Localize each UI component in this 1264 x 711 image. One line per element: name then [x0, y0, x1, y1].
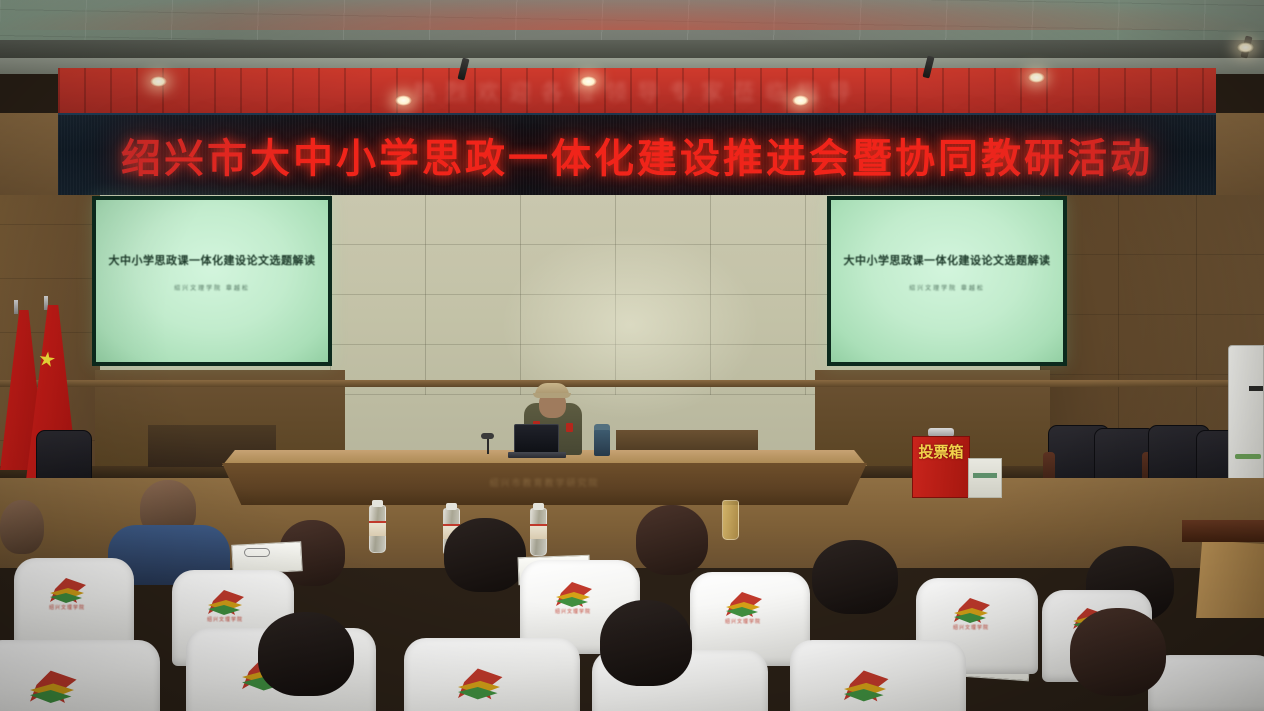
chair-cover: [790, 640, 966, 711]
chair-logo: 绍兴文理学院: [948, 596, 994, 630]
conference-hall-photo: 热烈欢迎各位领导专家莅临指导 绍兴市大中小学思政一体化建设推进会暨协同教研活动 …: [0, 0, 1264, 711]
speaker-cap-brim: [533, 393, 571, 398]
presenter-table-front: 绍兴市教育教学研究院: [222, 463, 867, 505]
slide-subtitle-left: 绍兴文理学院 章越松: [96, 283, 328, 292]
flag-pole: [44, 296, 48, 310]
tea-cup: [722, 500, 739, 540]
chair-cover: [404, 638, 580, 711]
chair-cover: [0, 640, 160, 711]
chair-logo-caption: 绍兴文理学院: [44, 604, 90, 611]
water-bottle-cap: [372, 500, 383, 507]
lectern-top: [1182, 520, 1264, 542]
projection-screen-left: 大中小学思政课一体化建设论文选题解读 绍兴文理学院 章越松: [92, 196, 332, 366]
ac-vent-icon: [1249, 386, 1263, 391]
chair-logo-caption: 绍兴文理学院: [202, 616, 248, 623]
projection-screen-left-surface: 大中小学思政课一体化建设论文选题解读 绍兴文理学院 章越松: [96, 200, 328, 362]
audience-head: [600, 600, 692, 686]
microphone-stand: [487, 438, 489, 454]
slide-subtitle-right: 绍兴文理学院 章越松: [831, 283, 1063, 292]
speaker-badge-icon: [566, 423, 573, 432]
ballot-box: 投票箱: [912, 436, 970, 498]
ceiling-spotlight-icon: [792, 95, 809, 106]
wall-trim-rail: [0, 380, 1264, 387]
flag-star-icon: ★: [37, 349, 58, 371]
ballot-box-label: 投票箱: [913, 444, 969, 461]
audience-head: [812, 540, 898, 614]
slide-title-left: 大中小学思政课一体化建设论文选题解读: [96, 252, 328, 268]
ceiling-spotlight-icon: [1237, 42, 1254, 53]
table-front-label: 绍兴市教育教学研究院: [222, 476, 867, 489]
slide-title-right: 大中小学思政课一体化建设论文选题解读: [831, 252, 1063, 268]
chair-logo: 绍兴文理学院: [550, 580, 596, 614]
main-banner-title: 绍兴市大中小学思政一体化建设推进会暨协同教研活动: [58, 113, 1216, 197]
white-box-label-strip: [973, 473, 997, 478]
ceiling-spotlight-icon: [150, 76, 167, 87]
chair-logo-caption: 绍兴文理学院: [948, 624, 994, 631]
chair-logo: [22, 668, 82, 711]
leather-chair[interactable]: [36, 430, 92, 482]
chair-logo-caption: 绍兴文理学院: [720, 618, 766, 625]
main-banner: 绍兴市大中小学思政一体化建设推进会暨协同教研活动: [58, 113, 1216, 197]
audience-head: [444, 518, 526, 592]
water-bottle-label: [530, 524, 547, 539]
ac-indicator: [1235, 454, 1261, 459]
chair-logo: 绍兴文理学院: [44, 576, 90, 610]
audience-head: [636, 505, 708, 575]
wooden-lectern: [1196, 540, 1264, 618]
projection-screen-right: 大中小学思政课一体化建设论文选题解读 绍兴文理学院 章越松: [827, 196, 1067, 366]
water-bottle-cap: [533, 503, 544, 510]
water-bottle-label: [369, 521, 386, 536]
chair-logo: 绍兴文理学院: [202, 588, 248, 622]
air-conditioner: [1228, 345, 1264, 500]
projection-screen-right-surface: 大中小学思政课一体化建设论文选题解读 绍兴文理学院 章越松: [831, 200, 1063, 362]
banner-left-wood-edge: [0, 113, 60, 197]
chair-logo-caption: 绍兴文理学院: [550, 608, 596, 615]
flag-pole: [14, 300, 18, 314]
chair-logo: [450, 666, 508, 708]
ceiling-spotlight-icon: [580, 76, 597, 87]
institution-logo-icon: [22, 668, 82, 711]
ceiling-spotlight-icon: [395, 95, 412, 106]
water-bottle-cap: [446, 503, 457, 510]
ceiling-spotlight-icon: [1028, 72, 1045, 83]
chair-logo: 绍兴文理学院: [720, 590, 766, 624]
laptop-screen[interactable]: [514, 424, 559, 454]
white-storage-box: [968, 458, 1002, 498]
chair-logo: [836, 668, 894, 710]
microphone-icon: [481, 433, 494, 439]
laptop-keyboard[interactable]: [508, 452, 566, 458]
audience-head: [258, 612, 354, 696]
eyeglasses-icon: [244, 548, 270, 557]
audience-head: [0, 500, 44, 554]
audience-head: [1070, 608, 1166, 696]
thermos-bottle: [594, 428, 610, 456]
thermos-cap: [594, 424, 610, 430]
institution-logo-icon: [450, 666, 508, 708]
institution-logo-icon: [836, 668, 894, 710]
